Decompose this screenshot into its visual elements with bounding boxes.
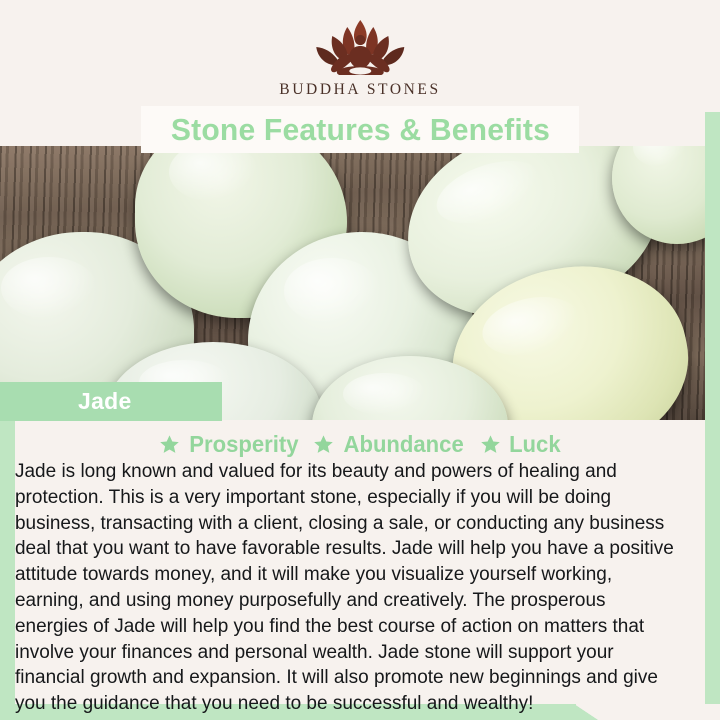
stone-info-card: BUDDHA STONES Stone Features & Benefits … [0, 0, 720, 720]
benefit-item: Prosperity [159, 431, 301, 458]
brand-name: BUDDHA STONES [279, 81, 440, 99]
benefit-label: Luck [509, 431, 561, 458]
benefit-label: Abundance [344, 431, 464, 458]
star-icon [159, 434, 180, 455]
benefits-row: Prosperity Abundance Luck [0, 428, 720, 460]
brand-logo: BUDDHA STONES [279, 14, 440, 99]
stone-description: Jade is long known and valued for its be… [15, 459, 681, 717]
lotus-meditation-icon [296, 14, 424, 80]
stone-name-banner: Jade [0, 382, 222, 421]
star-icon [480, 434, 501, 455]
page-title: Stone Features & Benefits [170, 112, 549, 148]
stone-photo [0, 146, 705, 420]
section-title-banner: Stone Features & Benefits [141, 106, 579, 153]
benefit-item: Luck [480, 431, 562, 458]
benefit-item: Abundance [313, 431, 466, 458]
star-icon [313, 434, 334, 455]
stone-name: Jade [78, 388, 132, 415]
brand-header: BUDDHA STONES [0, 0, 720, 112]
benefit-label: Prosperity [189, 431, 298, 458]
